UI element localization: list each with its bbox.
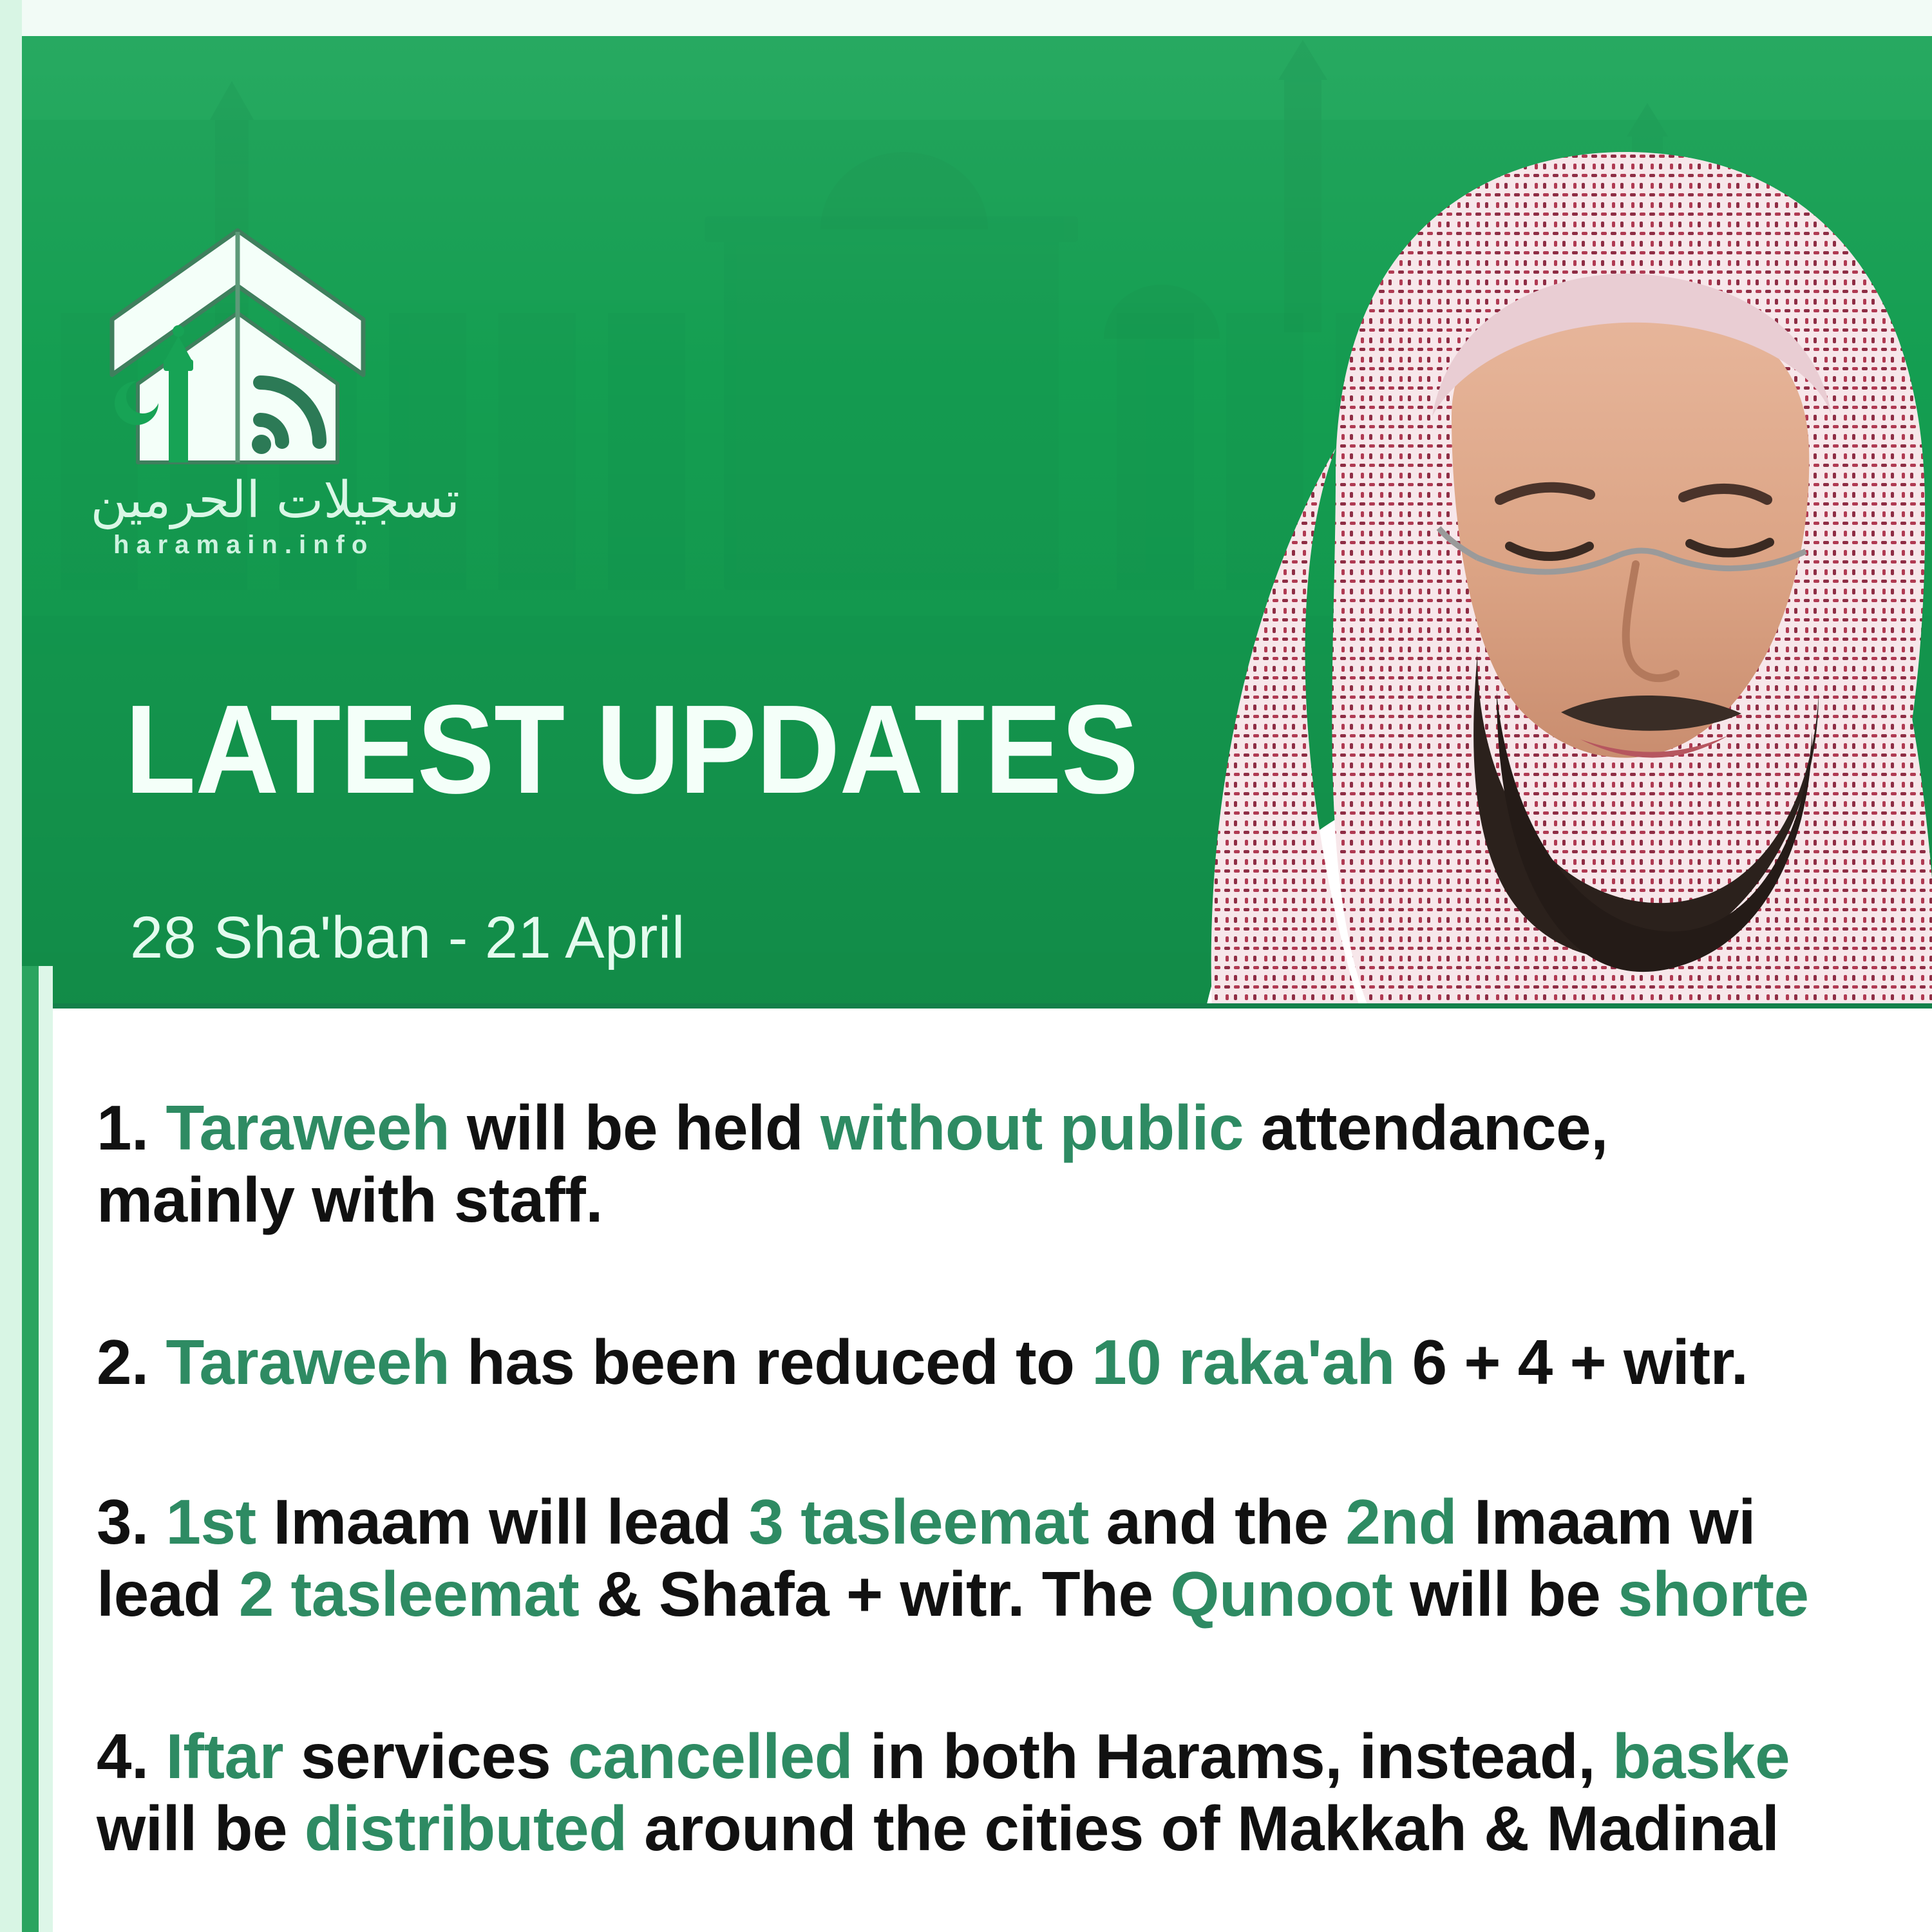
item-text: baske: [1613, 1721, 1790, 1792]
item-text: and the: [1106, 1486, 1346, 1557]
item-text: mainly with staff.: [97, 1164, 603, 1235]
item-text: will be held: [467, 1092, 820, 1163]
item-text: services: [301, 1721, 568, 1792]
item-text: shorte: [1618, 1558, 1809, 1629]
item-text: without public: [820, 1092, 1261, 1163]
left-green-rule: [22, 966, 39, 1932]
item-text: will be: [1410, 1558, 1618, 1629]
page-title: LATEST UPDATES: [125, 688, 1138, 811]
page-left-margin: [0, 0, 22, 1932]
item-text: distributed: [305, 1793, 645, 1864]
item-text: 6 + 4 + witr.: [1412, 1327, 1748, 1397]
item-text: 2 tasleemat: [239, 1558, 596, 1629]
item-text: 2nd: [1345, 1486, 1473, 1557]
item-number: 1.: [97, 1092, 149, 1163]
item-text: 1st: [166, 1486, 273, 1557]
page-top-margin: [0, 0, 1932, 36]
item-text: Iftar: [166, 1721, 300, 1792]
brand-arabic-name: تسجيلات الحرمين: [111, 475, 460, 526]
item-number: 4.: [97, 1721, 149, 1792]
header-banner: تسجيلات الحرمين haramain.info LATEST UPD…: [22, 36, 1932, 1003]
item-text: Imaam wi: [1474, 1486, 1756, 1557]
list-item: 1. Taraweeh will be held without public …: [97, 1092, 1932, 1236]
item-text: attendance,: [1261, 1092, 1608, 1163]
item-text: has been reduced to: [467, 1327, 1092, 1397]
item-text: cancelled: [568, 1721, 870, 1792]
item-text: Taraweeh: [166, 1092, 467, 1163]
date-subtitle: 28 Sha'ban - 21 April: [130, 904, 685, 972]
left-mint-rule: [39, 966, 53, 1932]
item-text: in both Harams, instead,: [870, 1721, 1613, 1792]
item-text: Imaam will lead: [273, 1486, 748, 1557]
item-text: Qunoot: [1170, 1558, 1410, 1629]
item-text: lead: [97, 1558, 239, 1629]
list-item: 3. 1st Imaam will lead 3 tasleemat and t…: [97, 1486, 1932, 1630]
item-text: 10 raka'ah: [1092, 1327, 1412, 1397]
list-item: 4. Iftar services cancelled in both Hara…: [97, 1721, 1932, 1864]
haramain-mosque-wifi-logo-icon: [99, 223, 376, 468]
item-text: around the cities of Makkah & Madinal: [644, 1793, 1779, 1864]
item-number: 3.: [97, 1486, 149, 1557]
list-item: 2. Taraweeh has been reduced to 10 raka'…: [97, 1327, 1932, 1399]
header-divider: [22, 1003, 1932, 1009]
item-number: 2.: [97, 1327, 149, 1397]
sheikh-portrait: [1175, 113, 1932, 1003]
item-text: & Shafa + witr. The: [596, 1558, 1170, 1629]
item-text: 3 tasleemat: [749, 1486, 1106, 1557]
brand-domain: haramain.info: [113, 531, 460, 560]
item-text: Taraweeh: [166, 1327, 467, 1397]
item-text: will be: [97, 1793, 305, 1864]
latest-updates-poster: تسجيلات الحرمين haramain.info LATEST UPD…: [0, 0, 1932, 1932]
updates-list: 1. Taraweeh will be held without public …: [53, 1016, 1932, 1932]
brand-logo-block: تسجيلات الحرمين haramain.info: [99, 223, 460, 560]
